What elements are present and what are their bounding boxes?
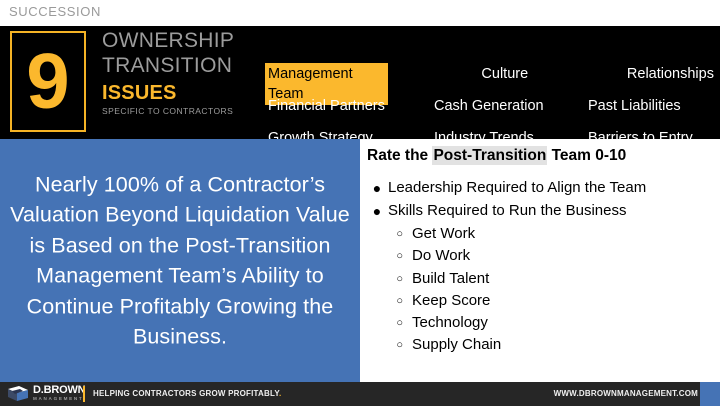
issue-item-cash-generation[interactable]: Cash Generation bbox=[434, 96, 588, 116]
hollow-bullet-icon: ○ bbox=[366, 268, 412, 290]
brand-name: D.BROWN bbox=[33, 385, 85, 396]
footer-website-url[interactable]: WWW.DBROWNMANAGEMENT.COM bbox=[554, 389, 698, 398]
hollow-bullet-icon: ○ bbox=[366, 223, 412, 245]
hollow-bullet-icon: ○ bbox=[366, 290, 412, 312]
rate-heading-highlight: Post-Transition bbox=[432, 146, 547, 165]
rate-heading-after: Team 0-10 bbox=[547, 147, 626, 164]
hollow-bullet-icon: ○ bbox=[366, 312, 412, 334]
dbrown-logo-icon bbox=[7, 385, 29, 402]
sub-bullet-label-build-talent: Build Talent bbox=[412, 268, 489, 290]
left-statement-text: Nearly 100% of a Contractor’s Valuation … bbox=[4, 169, 356, 352]
footer-tagline-period: . bbox=[279, 389, 281, 398]
title-line-ownership: OWNERSHIP bbox=[102, 29, 254, 53]
sub-bullet-label-technology: Technology bbox=[412, 312, 488, 334]
issues-row: Financial Partners Cash Generation Past … bbox=[268, 96, 714, 128]
eyebrow-label: SUCCESSION bbox=[9, 4, 101, 19]
list-item: ○ Supply Chain bbox=[366, 334, 718, 356]
right-content-panel: Rate the Post-Transition Team 0-10 ● Lea… bbox=[360, 139, 720, 382]
footer-accent-block bbox=[700, 382, 720, 406]
sub-bullet-label-supply-chain: Supply Chain bbox=[412, 334, 501, 356]
footer-tagline-text: HELPING CONTRACTORS GROW PROFITABLY bbox=[93, 389, 279, 398]
header-title-block: OWNERSHIP TRANSITION ISSUES SPECIFIC TO … bbox=[102, 29, 254, 116]
sub-bullet-label-do-work: Do Work bbox=[412, 245, 470, 267]
list-item: ● Leadership Required to Align the Team bbox=[366, 177, 718, 199]
issues-row: Management Team Culture Relationships bbox=[268, 64, 714, 96]
brand-logo: D.BROWN MANAGEMENT bbox=[7, 385, 85, 402]
list-item: ○ Do Work bbox=[366, 245, 718, 267]
list-item: ○ Keep Score bbox=[366, 290, 718, 312]
title-accent-issues: ISSUES bbox=[102, 83, 254, 104]
bullet-list: ● Leadership Required to Align the Team … bbox=[366, 177, 718, 357]
sub-bullet-label-keep-score: Keep Score bbox=[412, 290, 490, 312]
bullet-label-leadership: Leadership Required to Align the Team bbox=[388, 177, 646, 199]
issue-item-past-liabilities[interactable]: Past Liabilities bbox=[588, 96, 681, 116]
list-item: ○ Technology bbox=[366, 312, 718, 334]
sub-bullet-label-get-work: Get Work bbox=[412, 223, 475, 245]
rate-heading: Rate the Post-Transition Team 0-10 bbox=[367, 146, 626, 166]
rate-heading-before: Rate the bbox=[367, 147, 432, 164]
footer-divider bbox=[83, 386, 85, 402]
bullet-dot-icon: ● bbox=[366, 177, 388, 199]
hollow-bullet-icon: ○ bbox=[366, 334, 412, 356]
issue-item-financial-partners[interactable]: Financial Partners bbox=[268, 96, 434, 116]
list-item: ○ Build Talent bbox=[366, 268, 718, 290]
eyebrow-bar: SUCCESSION bbox=[0, 0, 720, 26]
header-band: 9 OWNERSHIP TRANSITION ISSUES SPECIFIC T… bbox=[0, 26, 720, 139]
title-subtitle: SPECIFIC TO CONTRACTORS bbox=[102, 106, 254, 116]
bullet-dot-icon: ● bbox=[366, 200, 388, 222]
brand-subtitle: MANAGEMENT bbox=[33, 397, 85, 402]
issue-number: 9 bbox=[12, 41, 84, 119]
title-line-transition: TRANSITION bbox=[102, 54, 254, 78]
left-statement-panel: Nearly 100% of a Contractor’s Valuation … bbox=[0, 139, 360, 382]
brand-logo-text: D.BROWN MANAGEMENT bbox=[33, 385, 85, 402]
issue-item-culture[interactable]: Culture bbox=[481, 64, 627, 84]
bullet-label-skills: Skills Required to Run the Business bbox=[388, 200, 626, 222]
list-item: ○ Get Work bbox=[366, 223, 718, 245]
slide: SUCCESSION 9 OWNERSHIP TRANSITION ISSUES… bbox=[0, 0, 720, 406]
list-item: ● Skills Required to Run the Business bbox=[366, 200, 718, 222]
issue-item-relationships[interactable]: Relationships bbox=[627, 64, 714, 84]
issue-number-box: 9 bbox=[10, 31, 86, 132]
footer-bar: D.BROWN MANAGEMENT HELPING CONTRACTORS G… bbox=[0, 382, 720, 406]
footer-tagline: HELPING CONTRACTORS GROW PROFITABLY. bbox=[93, 389, 281, 398]
hollow-bullet-icon: ○ bbox=[366, 245, 412, 267]
